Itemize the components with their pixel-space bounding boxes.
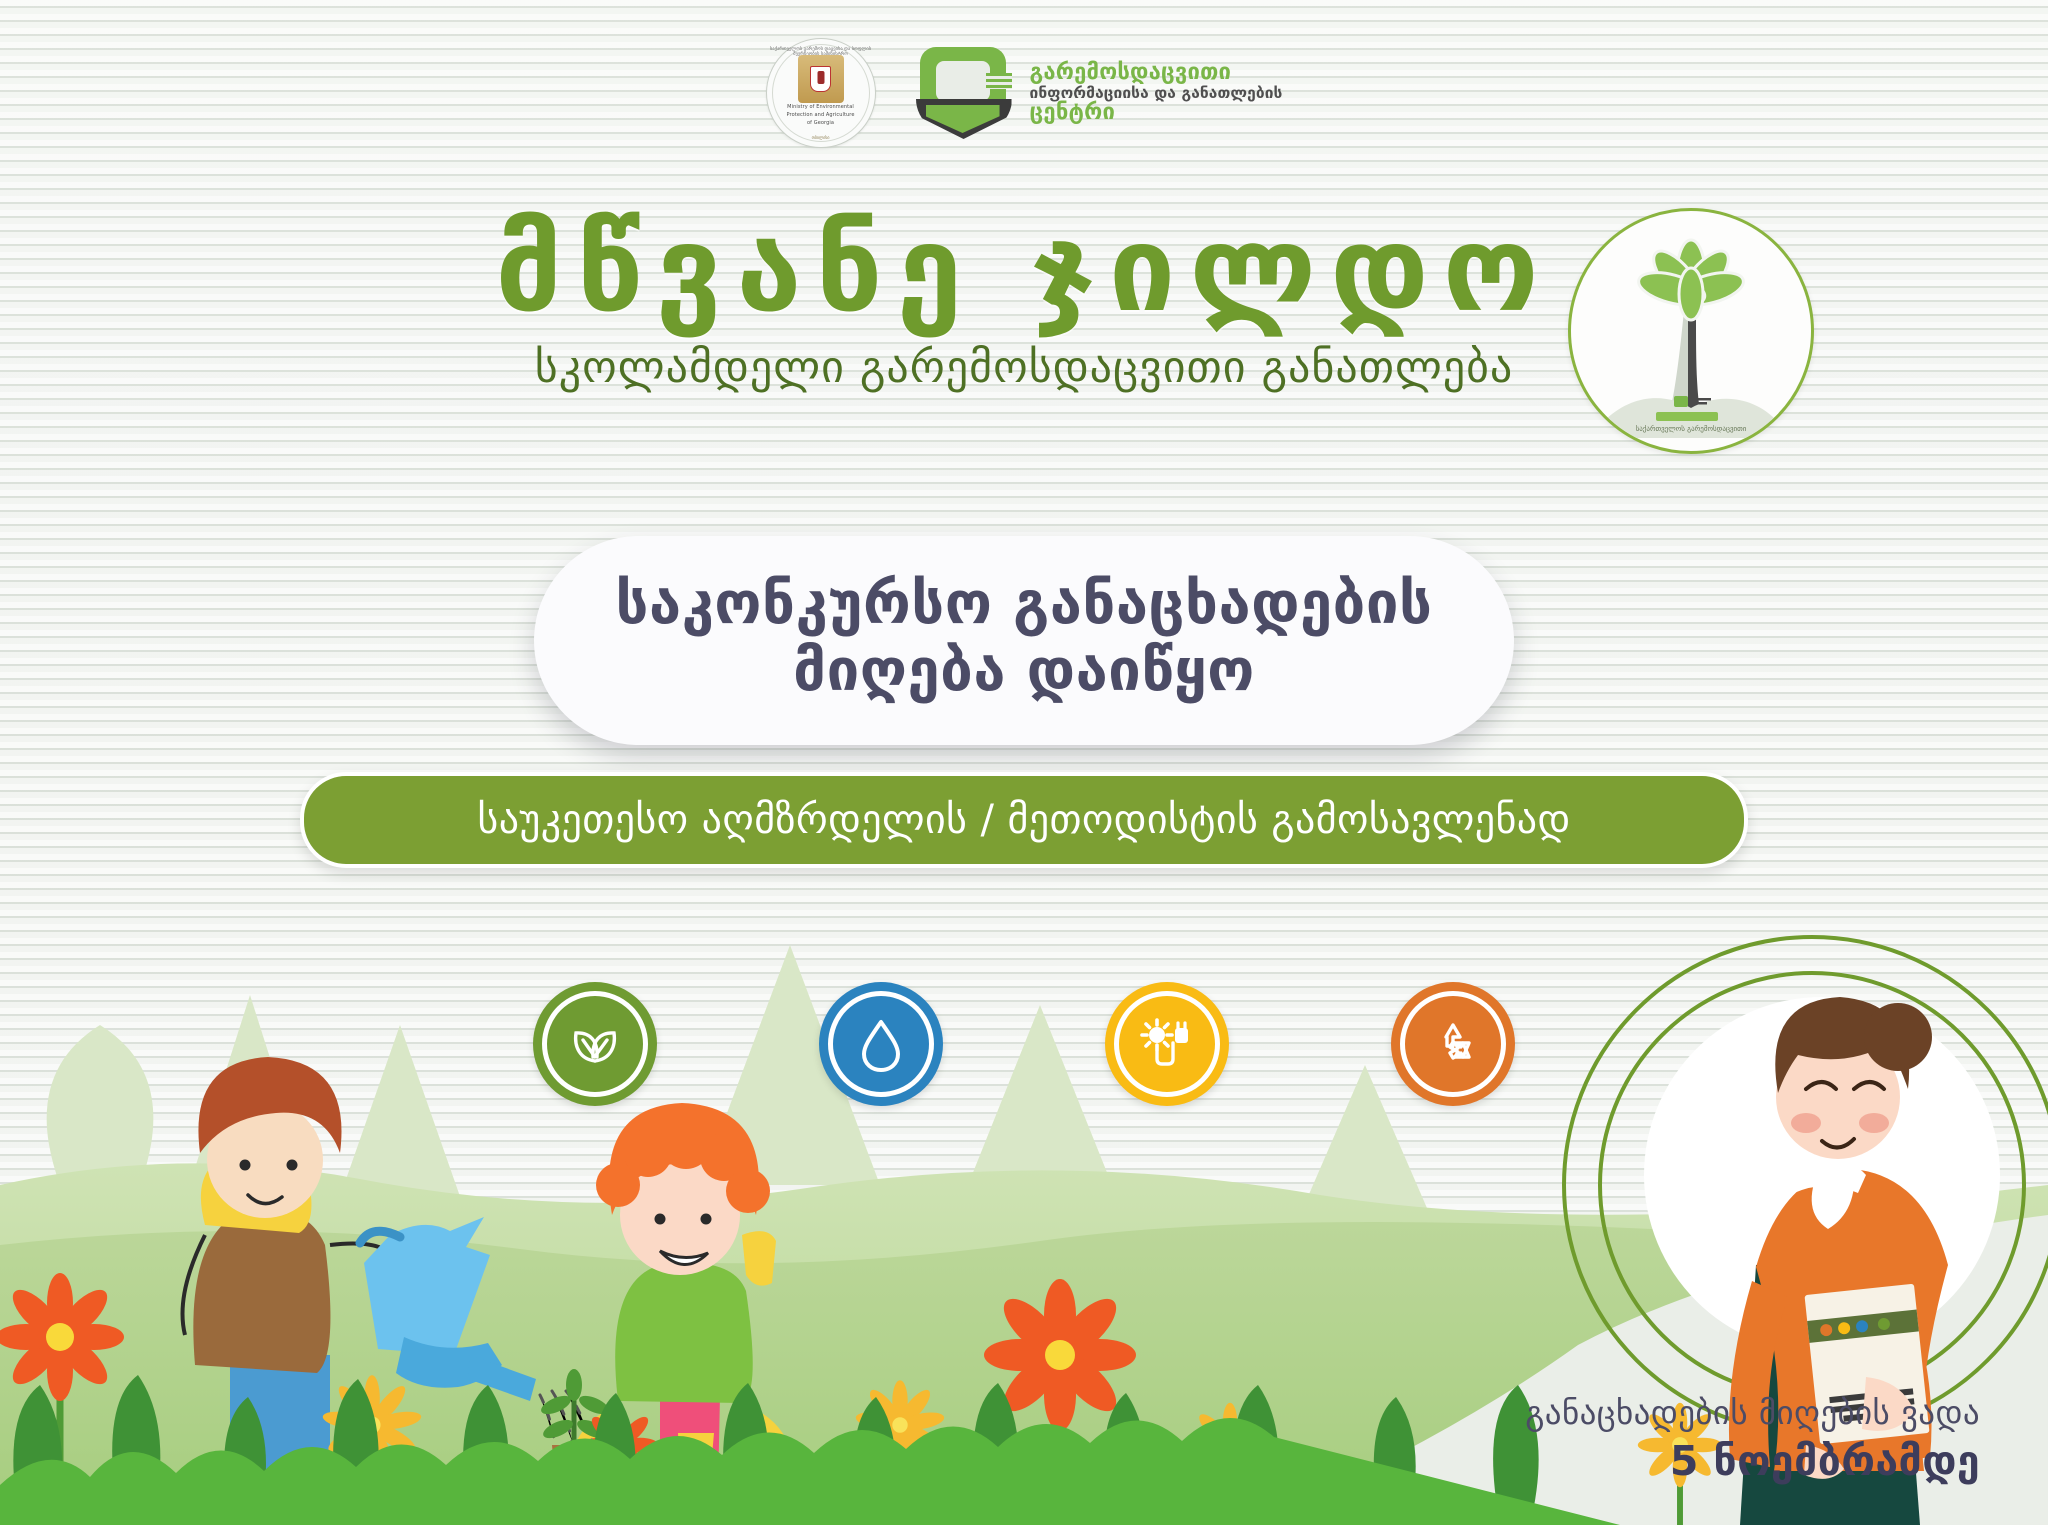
cie-logo-line2: ინფორმაციისა და განათლების <box>1030 85 1283 102</box>
header-logos: საქართველოს გარემოს დაცვისა და სოფლის მე… <box>0 38 2048 148</box>
flower-row <box>0 1273 1722 1525</box>
deadline-block: განაცხადების მიღების ვადა 5 ნოემბრამდე <box>1525 1393 1980 1485</box>
deadline-label: განაცხადების მიღების ვადა <box>1525 1393 1980 1432</box>
cie-logo-line1: გარემოსდაცვითი <box>1030 61 1283 85</box>
boy-watering-plant <box>183 1057 589 1525</box>
flower <box>984 1279 1136 1505</box>
badge-caption: საქართველოს გარემოსდაცვითი <box>1636 424 1747 433</box>
subtitle-banner-text: საუკეთესო აღმზრდელის / მეთოდისტის გამოსა… <box>477 797 1570 843</box>
water-drop-icon <box>819 982 943 1106</box>
seal-crest <box>798 55 844 103</box>
theme-icon-row <box>0 982 2048 1106</box>
seedling-in-pot <box>539 1369 612 1517</box>
announcement-line-2: მიღება დაიწყო <box>574 637 1474 704</box>
energy-icon <box>1105 982 1229 1106</box>
leaves <box>13 1375 1538 1525</box>
water-stream <box>540 1391 588 1441</box>
cie-logo-line3: ცენტრი <box>1030 101 1283 125</box>
girl-holding-seedling <box>539 1103 794 1525</box>
flower <box>321 1375 422 1525</box>
subtitle-banner: საუკეთესო აღმზრდელის / მეთოდისტის გამოსა… <box>300 772 1748 868</box>
announcement-pill: საკონკურსო განაცხადების მიღება დაიწყო <box>534 536 1514 745</box>
cie-logo-mark-icon <box>920 47 1016 139</box>
ministry-seal: საქართველოს გარემოს დაცვისა და სოფლის მე… <box>766 38 876 148</box>
green-award-tree-badge: საქართველოს გარემოსდაცვითი <box>1568 208 1814 454</box>
flower <box>0 1273 124 1467</box>
seal-shield <box>810 66 831 92</box>
deadline-value: 5 ნოემბრამდე <box>1525 1437 1980 1485</box>
watering-can-icon <box>360 1217 588 1441</box>
recycle-icon <box>1391 982 1515 1106</box>
announcement-line-1: საკონკურსო განაცხადების <box>574 570 1474 637</box>
tree-trophy-icon: საქართველოს გარემოსდაცვითი <box>1576 216 1806 446</box>
leaf-icon <box>533 982 657 1106</box>
seal-foot-text: თბილისი <box>767 135 875 140</box>
flower <box>582 1407 659 1525</box>
striped-sleeve <box>570 1405 794 1475</box>
poster-root: საქართველოს გარემოს დაცვისა და სოფლის მე… <box>0 0 2048 1525</box>
cie-logo: გარემოსდაცვითი ინფორმაციისა და განათლები… <box>920 47 1283 139</box>
flower <box>1188 1403 1272 1525</box>
flower <box>855 1380 946 1525</box>
